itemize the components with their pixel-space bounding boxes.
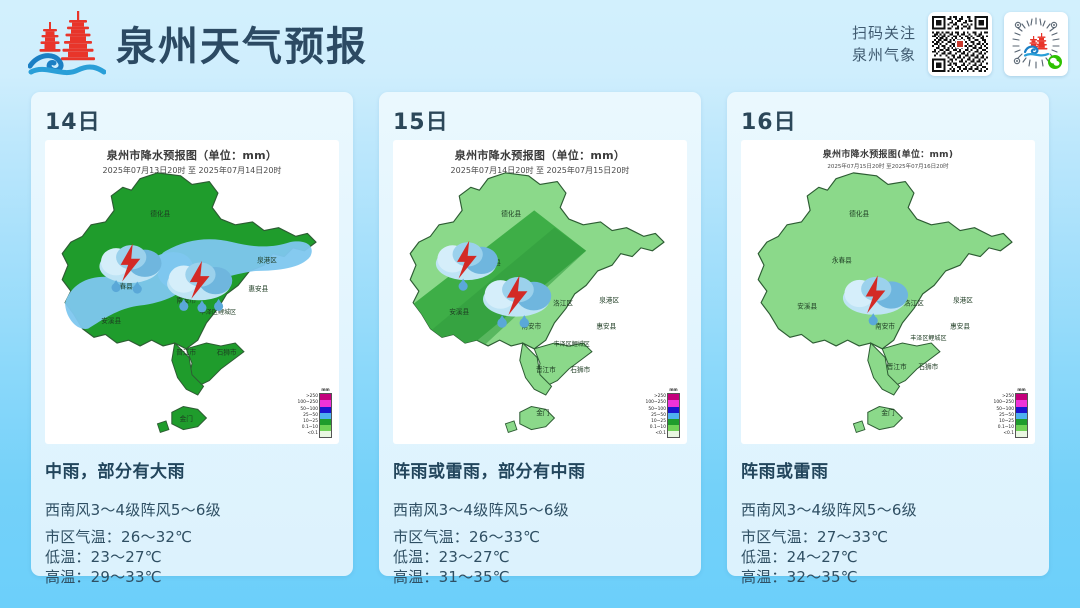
low-temperature: 低温：24～27℃ [741, 547, 1035, 567]
map-period: 2025年07月15日20时 至2025年07月16日20时 [741, 162, 1035, 170]
forecast-card-day-15[interactable]: 15日 泉州市降水预报图（单位：mm） 2025年07月14日20时 至 202… [379, 92, 701, 576]
scan-follow-text: 扫码关注 泉州气象 [852, 22, 916, 67]
svg-text:惠安县: 惠安县 [596, 322, 616, 331]
map-canvas: 德化县 永春县 安溪县 洛江区 泉港区 惠安县 丰泽区鲤城区 南安市 晋江市 石… [393, 170, 687, 444]
precipitation-legend: >250 100~250 50~100 25~50 10~25 0.1~10 <… [646, 387, 680, 438]
svg-text:泉港区: 泉港区 [953, 296, 973, 305]
scan-line-1: 扫码关注 [852, 22, 916, 45]
svg-text:金门: 金门 [180, 414, 194, 423]
svg-text:泉港区: 泉港区 [599, 296, 619, 305]
svg-text:晋江市: 晋江市 [536, 365, 556, 374]
svg-text:金门: 金门 [881, 408, 895, 417]
forecast-cards: 14日 泉州市降水预报图（单位：mm） 2025年07月13日20时 至 202… [0, 92, 1080, 582]
city-temperature: 市区气温：26～33℃ [393, 527, 687, 547]
svg-text:石狮市: 石狮市 [918, 362, 938, 371]
weather-summary: 中雨，部分有大雨 [45, 457, 339, 482]
svg-text:丰泽区鲤城区: 丰泽区鲤城区 [910, 334, 946, 342]
page-title: 泉州天气预报 [116, 27, 368, 67]
svg-text:安溪县: 安溪县 [449, 307, 469, 316]
weather-summary: 阵雨或雷雨，部分有中雨 [393, 457, 687, 482]
precipitation-map-day-16[interactable]: 泉州市降水预报图(单位：mm) 2025年07月15日20时 至2025年07月… [741, 140, 1035, 444]
city-temperature: 市区气温：27～33℃ [741, 527, 1035, 547]
map-title: 泉州市降水预报图（单位：mm） [393, 140, 687, 163]
svg-text:晋江市: 晋江市 [176, 348, 196, 357]
svg-text:晋江市: 晋江市 [887, 362, 907, 371]
svg-text:石狮市: 石狮市 [570, 365, 590, 374]
map-canvas: 德化县 永春县 安溪县 洛江区 泉港区 惠安县 丰泽区鲤城区 南安市 晋江市 石… [741, 170, 1035, 444]
city-temperature: 市区气温：26～32℃ [45, 527, 339, 547]
quanzhou-twin-pagoda-wave-logo [28, 10, 106, 78]
svg-text:德化县: 德化县 [150, 209, 170, 218]
forecast-details: 西南风3～4级阵风5～6级 市区气温：27～33℃ 低温：24～27℃ 高温：3… [741, 499, 1035, 587]
wind-info: 西南风3～4级阵风5～6级 [741, 499, 1035, 520]
svg-text:金门: 金门 [536, 408, 550, 417]
scan-follow-block: 扫码关注 泉州气象 [852, 12, 1068, 76]
legend-labels: >250 100~250 50~100 25~50 10~25 0.1~10 <… [646, 387, 666, 437]
legend-label: <0.1 [307, 431, 318, 437]
map-canvas: 德化县 永春县 安溪县 洛江区 泉港区 惠安县 丰泽区鲤城区 南安市 晋江市 石… [45, 170, 339, 444]
legend-labels: >250 100~250 50~100 25~50 10~25 0.1~10 <… [298, 387, 318, 437]
page-header: 泉州天气预报 扫码关注 泉州气象 [0, 0, 1080, 92]
map-title: 泉州市降水预报图(单位：mm) [741, 140, 1035, 160]
precipitation-legend: >250 100~250 50~100 25~50 10~25 0.1~10 <… [298, 387, 332, 438]
precipitation-map-day-14[interactable]: 泉州市降水预报图（单位：mm） 2025年07月13日20时 至 2025年07… [45, 140, 339, 444]
svg-text:安溪县: 安溪县 [797, 301, 817, 310]
scan-line-2: 泉州气象 [852, 44, 916, 67]
svg-text:洛江区: 洛江区 [904, 299, 924, 308]
day-label: 15日 [393, 104, 687, 136]
svg-text:安溪县: 安溪县 [101, 316, 121, 325]
wechat-official-account-qr-code[interactable] [1004, 12, 1068, 76]
forecast-card-day-14[interactable]: 14日 泉州市降水预报图（单位：mm） 2025年07月13日20时 至 202… [31, 92, 353, 576]
high-temperature: 高温：31～35℃ [393, 567, 687, 587]
low-temperature: 低温：23～27℃ [393, 547, 687, 567]
wind-info: 西南风3～4级阵风5～6级 [45, 499, 339, 520]
weather-summary: 阵雨或雷雨 [741, 457, 1035, 482]
precipitation-map-day-15[interactable]: 泉州市降水预报图（单位：mm） 2025年07月14日20时 至 2025年07… [393, 140, 687, 444]
svg-text:德化县: 德化县 [501, 209, 521, 218]
svg-text:泉港区: 泉港区 [257, 255, 277, 264]
legend-color-bar: mm [667, 387, 680, 438]
svg-text:惠安县: 惠安县 [950, 322, 970, 331]
legend-labels: >250 100~250 50~100 25~50 10~25 0.1~10 <… [994, 387, 1014, 437]
wind-info: 西南风3～4级阵风5～6级 [393, 499, 687, 520]
precipitation-legend: >250 100~250 50~100 25~50 10~25 0.1~10 <… [994, 387, 1028, 438]
legend-label: <0.1 [1003, 431, 1014, 437]
legend-color-bar: mm [1015, 387, 1028, 438]
svg-text:惠安县: 惠安县 [248, 284, 268, 293]
map-title: 泉州市降水预报图（单位：mm） [45, 140, 339, 163]
brand-block: 泉州天气预报 [28, 10, 368, 78]
legend-color-bar: mm [319, 387, 332, 438]
forecast-details: 西南风3～4级阵风5～6级 市区气温：26～32℃ 低温：23～27℃ 高温：2… [45, 499, 339, 587]
qr-code[interactable] [928, 12, 992, 76]
day-label: 14日 [45, 104, 339, 136]
svg-text:丰泽区鲤城区: 丰泽区鲤城区 [554, 340, 590, 348]
svg-text:石狮市: 石狮市 [217, 348, 237, 357]
high-temperature: 高温：29～33℃ [45, 567, 339, 587]
svg-text:洛江区: 洛江区 [553, 299, 573, 308]
low-temperature: 低温：23～27℃ [45, 547, 339, 567]
svg-text:德化县: 德化县 [849, 209, 869, 218]
day-label: 16日 [741, 104, 1035, 136]
svg-text:永春县: 永春县 [832, 255, 852, 264]
svg-text:南安市: 南安市 [875, 322, 895, 331]
legend-label: <0.1 [655, 431, 666, 437]
forecast-card-day-16[interactable]: 16日 泉州市降水预报图(单位：mm) 2025年07月15日20时 至2025… [727, 92, 1049, 576]
forecast-details: 西南风3～4级阵风5～6级 市区气温：26～33℃ 低温：23～27℃ 高温：3… [393, 499, 687, 587]
high-temperature: 高温：32～35℃ [741, 567, 1035, 587]
